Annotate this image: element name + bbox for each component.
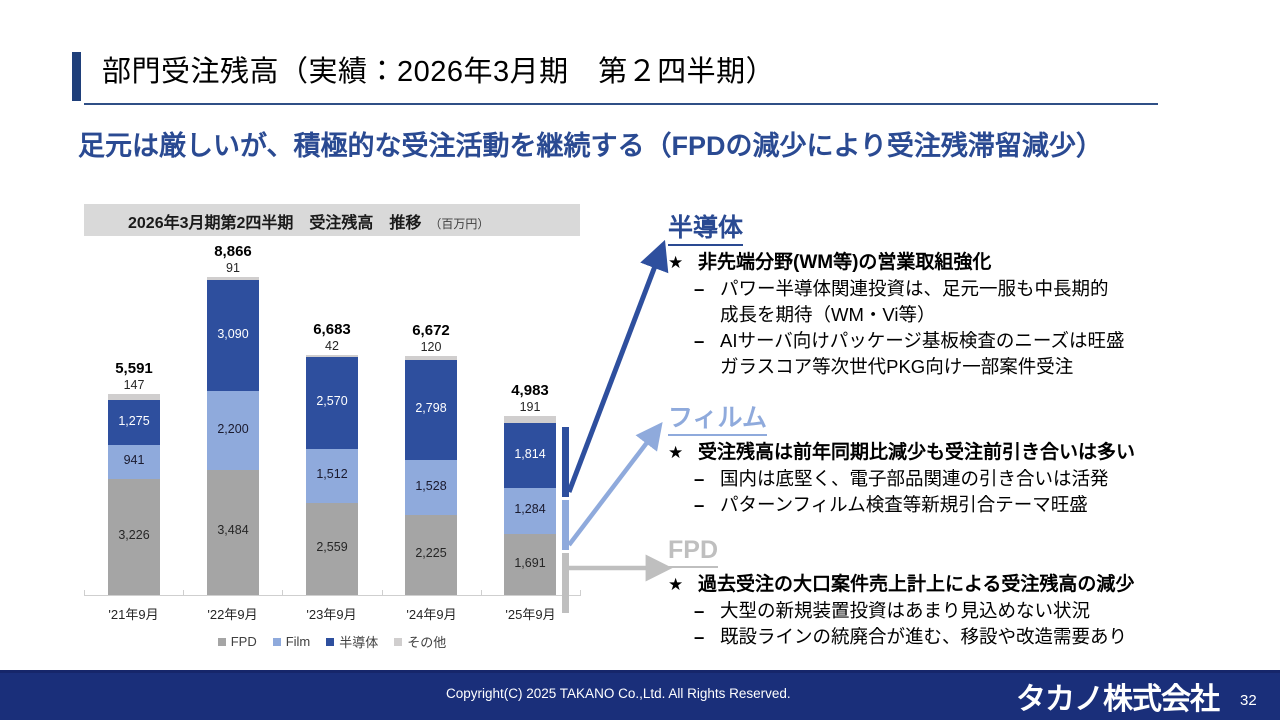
note-dash-bullet: – AIサーバ向けパッケージ基板検査のニーズは旺盛	[694, 328, 1274, 354]
bar-segment-value: 1,284	[504, 502, 556, 516]
bar-segment-value: 1,691	[504, 556, 556, 570]
bar-segment-FPD[interactable]: 2,559	[306, 503, 358, 595]
note-star-text-fpd: 過去受注の大口案件売上計上による受注残高の減少	[698, 571, 1134, 598]
star-icon: ★	[668, 571, 698, 598]
chart-caption-unit: （百万円）	[429, 217, 489, 231]
x-axis-tick	[580, 590, 581, 596]
x-axis-label: '21年9月	[84, 604, 183, 623]
legend-swatch-icon	[326, 638, 334, 646]
dash-icon: –	[694, 492, 720, 518]
bar-segment-value: 120	[405, 340, 457, 354]
legend-item-Film[interactable]: Film	[273, 634, 311, 649]
bar-segment-value: 3,484	[207, 523, 259, 537]
company-logo-text: タカノ株式会社	[1016, 674, 1219, 718]
bar-segment-半導体[interactable]: 2,570	[306, 357, 358, 449]
note-dash-text: パターンフィルム検査等新規引合テーマ旺盛	[720, 492, 1088, 518]
note-dash-text: AIサーバ向けパッケージ基板検査のニーズは旺盛	[720, 328, 1125, 354]
bar-segment-value: 941	[108, 453, 160, 467]
bar-segment-FPD[interactable]: 1,691	[504, 534, 556, 595]
note-heading-semiconductor: 半導体	[668, 214, 743, 246]
dash-icon: –	[694, 328, 720, 354]
page-subtitle: 足元は厳しいが、積極的な受注活動を継続する（FPDの減少により受注残滞留減少）	[78, 124, 1103, 163]
page-number: 32	[1240, 692, 1257, 709]
note-star-bullet-semiconductor: ★ 非先端分野(WM等)の営業取組強化	[668, 249, 1274, 276]
note-star-bullet-film: ★ 受注残高は前年同期比減少も受注前引き合いは多い	[668, 439, 1274, 466]
legend-label: FPD	[231, 634, 257, 649]
legend-swatch-icon	[273, 638, 281, 646]
bar-segment-value: 3,090	[207, 327, 259, 341]
dash-icon: –	[694, 598, 720, 624]
legend-label: その他	[407, 632, 446, 651]
bar-segment-value: 42	[306, 339, 358, 353]
bar-segment-value: 2,798	[405, 401, 457, 415]
footer-bar: Copyright(C) 2025 TAKANO Co.,Ltd. All Ri…	[0, 670, 1280, 720]
dash-icon: –	[694, 276, 720, 302]
note-dash-text: 大型の新規装置投資はあまり見込めない状況	[720, 598, 1090, 624]
bar-segment-value: 2,225	[405, 546, 457, 560]
bar-segment-value: 2,559	[306, 540, 358, 554]
x-axis-line	[84, 595, 580, 596]
bar-segment-その他[interactable]: 191	[504, 416, 556, 423]
dash-icon: –	[694, 624, 720, 650]
bar-stack: 1471,2759413,226	[108, 394, 160, 595]
note-heading-fpd: FPD	[668, 536, 718, 568]
x-axis-tick	[481, 590, 482, 596]
note-dash-text: 国内は底堅く、電子部品関連の引き合いは活発	[720, 466, 1109, 492]
x-axis-label: '22年9月	[183, 604, 282, 623]
legend-item-FPD[interactable]: FPD	[218, 634, 257, 649]
footer-top-edge	[0, 670, 1280, 673]
bar-segment-Film[interactable]: 941	[108, 445, 160, 479]
bar-segment-半導体[interactable]: 2,798	[405, 360, 457, 460]
note-heading-film: フィルム	[668, 404, 767, 436]
bar-segment-Film[interactable]: 1,284	[504, 488, 556, 534]
bar-segment-value: 1,814	[504, 447, 556, 461]
bar-segment-value: 1,512	[306, 467, 358, 481]
bar-segment-value: 191	[504, 400, 556, 414]
x-axis-tick	[382, 590, 383, 596]
slide-header: 部門受注残高（実績：2026年3月期 第２四半期）	[72, 52, 1158, 104]
bar-segment-value: 2,200	[207, 422, 259, 436]
legend-swatch-icon	[218, 638, 226, 646]
bar-total-label: 4,983	[482, 382, 578, 399]
stacked-bar-chart-plot: 1471,2759413,2265,591913,0902,2003,4848,…	[84, 248, 580, 596]
bar-total-label: 8,866	[185, 243, 281, 260]
bar-stack: 913,0902,2003,484	[207, 277, 259, 595]
bar-segment-value: 1,528	[405, 479, 457, 493]
legend-swatch-icon	[394, 638, 402, 646]
note-dash-bullet: – パターンフィルム検査等新規引合テーマ旺盛	[694, 492, 1274, 518]
bar-group[interactable]: 913,0902,2003,4848,866	[207, 251, 259, 595]
bar-segment-Film[interactable]: 2,200	[207, 391, 259, 470]
chart-caption-title: 2026年3月期第2四半期 受注残高 推移	[128, 215, 421, 232]
bar-total-label: 6,672	[383, 322, 479, 339]
bar-group[interactable]: 1471,2759413,2265,591	[108, 368, 160, 595]
chart-panel: 2026年3月期第2四半期 受注残高 推移（百万円） 1471,2759413,…	[84, 204, 584, 660]
bar-total-label: 5,591	[86, 360, 182, 377]
note-star-text-semiconductor: 非先端分野(WM等)の営業取組強化	[698, 249, 991, 276]
bar-segment-value: 147	[108, 378, 160, 392]
legend-label: Film	[286, 634, 311, 649]
bar-segment-半導体[interactable]: 3,090	[207, 280, 259, 391]
note-dash-continuation: 成長を期待（WM・Vi等）	[720, 302, 1274, 328]
bar-segment-value: 3,226	[108, 528, 160, 542]
bar-stack: 422,5701,5122,559	[306, 355, 358, 595]
note-block-semiconductor: 半導体 ★ 非先端分野(WM等)の営業取組強化 – パワー半導体関連投資は、足元…	[668, 214, 1274, 380]
legend-item-半導体[interactable]: 半導体	[326, 632, 378, 651]
chart-legend: FPDFilm半導体その他	[84, 632, 580, 651]
star-icon: ★	[668, 439, 698, 466]
x-axis-label: '25年9月	[481, 604, 580, 623]
bar-total-label: 6,683	[284, 321, 380, 338]
note-dash-text: 既設ラインの統廃合が進む、移設や改造需要あり	[720, 624, 1127, 650]
bar-group[interactable]: 422,5701,5122,5596,683	[306, 329, 358, 595]
bar-segment-FPD[interactable]: 3,484	[207, 470, 259, 595]
title-accent-bar	[72, 52, 81, 101]
bar-group[interactable]: 1202,7981,5282,2256,672	[405, 330, 457, 595]
bar-segment-半導体[interactable]: 1,814	[504, 423, 556, 488]
chart-caption: 2026年3月期第2四半期 受注残高 推移（百万円）	[128, 209, 489, 233]
note-dash-bullet: – パワー半導体関連投資は、足元一服も中長期的	[694, 276, 1274, 302]
x-axis-tick	[84, 590, 85, 596]
bar-segment-FPD[interactable]: 3,226	[108, 479, 160, 595]
bar-segment-value: 2,570	[306, 394, 358, 408]
bar-segment-半導体[interactable]: 1,275	[108, 400, 160, 446]
legend-label: 半導体	[339, 632, 378, 651]
bar-segment-FPD[interactable]: 2,225	[405, 515, 457, 595]
legend-item-その他[interactable]: その他	[394, 632, 446, 651]
x-axis-label: '24年9月	[382, 604, 481, 623]
note-dash-continuation: ガラスコア等次世代PKG向け一部案件受注	[720, 354, 1274, 380]
note-block-film: フィルム ★ 受注残高は前年同期比減少も受注前引き合いは多い – 国内は底堅く、…	[668, 404, 1274, 518]
note-block-fpd: FPD ★ 過去受注の大口案件売上計上による受注残高の減少 – 大型の新規装置投…	[668, 536, 1274, 650]
note-dash-bullet: – 国内は底堅く、電子部品関連の引き合いは活発	[694, 466, 1274, 492]
bar-stack: 1202,7981,5282,225	[405, 356, 457, 595]
title-underline	[84, 103, 1158, 105]
bar-segment-Film[interactable]: 1,512	[306, 449, 358, 503]
note-dash-text: パワー半導体関連投資は、足元一服も中長期的	[720, 276, 1109, 302]
bar-stack: 1911,8141,2841,691	[504, 416, 556, 595]
bar-segment-value: 1,275	[108, 414, 160, 428]
copyright-text: Copyright(C) 2025 TAKANO Co.,Ltd. All Ri…	[446, 686, 791, 701]
note-star-text-film: 受注残高は前年同期比減少も受注前引き合いは多い	[698, 439, 1135, 466]
page-title: 部門受注残高（実績：2026年3月期 第２四半期）	[102, 50, 775, 94]
bar-segment-Film[interactable]: 1,528	[405, 460, 457, 515]
note-dash-bullet: – 既設ラインの統廃合が進む、移設や改造需要あり	[694, 624, 1274, 650]
x-axis-tick	[183, 590, 184, 596]
note-star-bullet-fpd: ★ 過去受注の大口案件売上計上による受注残高の減少	[668, 571, 1274, 598]
x-axis-label: '23年9月	[282, 604, 381, 623]
dash-icon: –	[694, 466, 720, 492]
note-dash-bullet: – 大型の新規装置投資はあまり見込めない状況	[694, 598, 1274, 624]
x-axis-tick	[282, 590, 283, 596]
bar-group[interactable]: 1911,8141,2841,6914,983	[504, 390, 556, 595]
star-icon: ★	[668, 249, 698, 276]
bar-segment-value: 91	[207, 261, 259, 275]
